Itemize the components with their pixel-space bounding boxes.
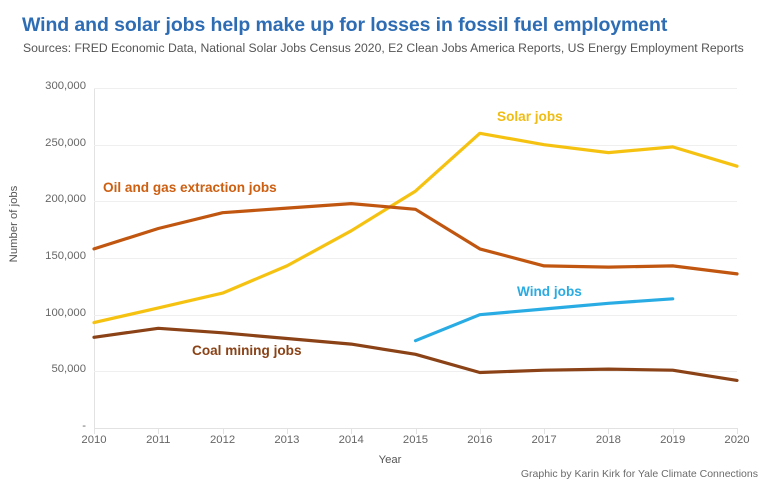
series-line (94, 328, 737, 380)
x-axis-tick-label: 2019 (643, 434, 703, 446)
x-axis-tick-mark (416, 429, 417, 434)
series-label: Oil and gas extraction jobs (103, 180, 277, 195)
x-axis-tick-mark (94, 429, 95, 434)
x-axis-tick-label: 2010 (64, 434, 124, 446)
x-axis-tick-mark (158, 429, 159, 434)
x-axis-tick-mark (673, 429, 674, 434)
x-axis-tick-mark (287, 429, 288, 434)
x-axis-tick-label: 2013 (257, 434, 317, 446)
chart-container: Wind and solar jobs help make up for los… (0, 0, 780, 494)
series-label: Wind jobs (517, 284, 582, 299)
series-label: Coal mining jobs (192, 343, 302, 358)
x-axis-tick-mark (351, 429, 352, 434)
series-label: Solar jobs (497, 109, 563, 124)
x-axis-tick-mark (480, 429, 481, 434)
x-axis-tick-label: 2018 (578, 434, 638, 446)
x-axis-tick-label: 2017 (514, 434, 574, 446)
x-axis-tick-label: 2011 (128, 434, 188, 446)
series-line (94, 204, 737, 274)
credit-line: Graphic by Karin Kirk for Yale Climate C… (521, 468, 758, 480)
series-line (416, 299, 673, 341)
x-axis-tick-label: 2016 (450, 434, 510, 446)
x-axis-tick-mark (544, 429, 545, 434)
x-axis-tick-mark (608, 429, 609, 434)
x-axis-tick-label: 2020 (707, 434, 767, 446)
y-axis-title: Number of jobs (8, 144, 20, 304)
x-axis-tick-mark (737, 429, 738, 434)
x-axis-title: Year (0, 454, 780, 466)
x-axis-tick-label: 2014 (321, 434, 381, 446)
x-axis-tick-label: 2012 (193, 434, 253, 446)
x-axis-tick-mark (223, 429, 224, 434)
series-line (94, 133, 737, 322)
x-axis-tick-label: 2015 (386, 434, 446, 446)
series-lines (0, 0, 780, 494)
